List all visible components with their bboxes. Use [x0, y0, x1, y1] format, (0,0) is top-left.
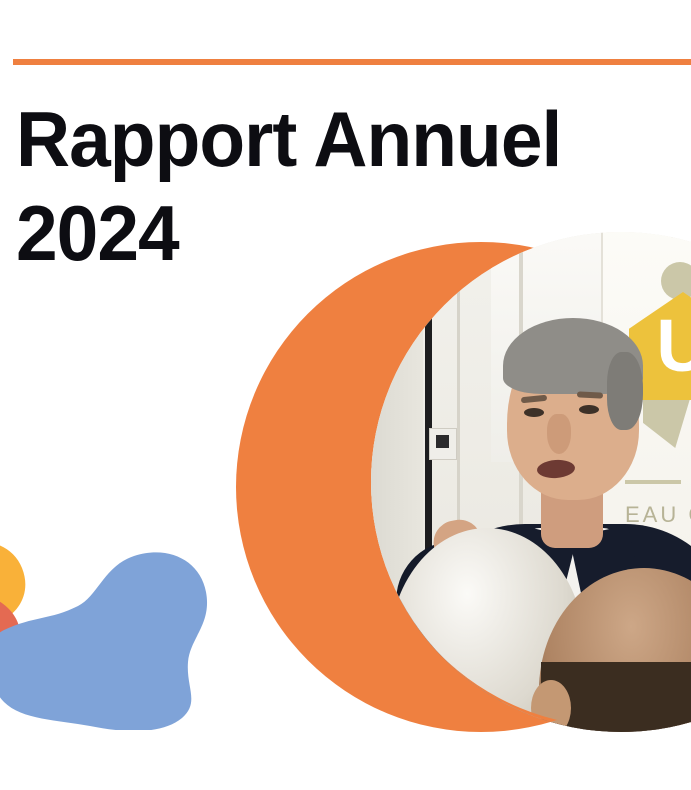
- top-orange-rule: [13, 59, 691, 65]
- cover-photo: U D EAU CAR n mo es p n hom t p orte: [371, 232, 691, 732]
- orange-crescent-overlay: [371, 242, 691, 732]
- decorative-blobs: [0, 520, 238, 730]
- photo-content: U D EAU CAR n mo es p n hom t p orte: [371, 232, 691, 732]
- page-title: Rapport Annuel 2024: [16, 92, 676, 280]
- blobs-svg: [0, 520, 238, 730]
- title-line-2: 2024: [16, 186, 650, 280]
- report-cover-page: Rapport Annuel 2024: [0, 0, 691, 790]
- blue-blob-icon: [0, 552, 207, 730]
- title-line-1: Rapport Annuel: [16, 92, 650, 186]
- crescent-fill: [371, 242, 691, 732]
